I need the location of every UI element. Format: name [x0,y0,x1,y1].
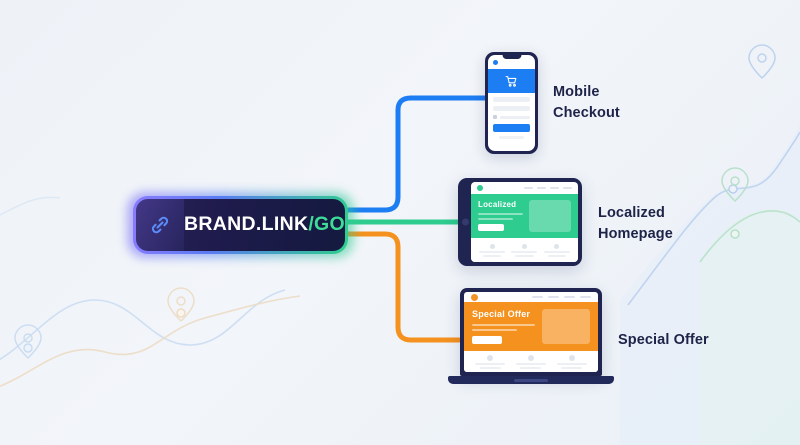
feature-text [515,255,533,257]
laptop-nav-links[interactable] [532,296,591,298]
feature-text [520,367,541,369]
label-localized-homepage: Localized Homepage [598,203,673,245]
label-line-2: Checkout [553,103,620,124]
tablet-home-button[interactable] [462,219,469,226]
laptop-feature-row [464,351,598,372]
laptop-hero-image [542,309,590,344]
tablet-hero-headline: Localized [478,200,523,209]
feature-text [479,251,505,253]
brand-link-badge[interactable]: BRAND.LINK/GO [133,196,348,254]
tablet-feature-item [544,244,570,257]
checkout-checkbox-row[interactable] [493,115,530,119]
laptop-site-logo [471,294,478,301]
checkout-field-1[interactable] [493,97,530,102]
laptop-hero-text [472,324,535,326]
phone-notch [502,55,521,59]
feature-text [475,363,505,365]
laptop-mockup-special-offer[interactable]: Special Offer [448,288,614,388]
nav-link[interactable] [580,296,591,298]
label-line-1: Special Offer [618,330,709,351]
label-line-2: Homepage [598,224,673,245]
shopping-cart-icon [488,69,535,93]
feature-text [511,251,537,253]
tablet-hero-image [529,200,571,232]
phone-app-logo [493,60,498,65]
tablet-hero-text [478,218,513,220]
tablet-feature-row [471,238,578,262]
label-special-offer: Special Offer [618,330,709,351]
nav-link[interactable] [550,187,559,189]
laptop-hero-text [472,329,517,331]
tablet-mockup-localized-homepage[interactable]: Localized [458,178,582,266]
nav-link[interactable] [564,296,575,298]
checkout-field-2[interactable] [493,106,530,111]
checkbox-label [500,116,530,119]
laptop-feature-item [475,355,505,369]
feature-text [480,367,501,369]
tablet-feature-item [479,244,505,257]
brand-name-primary: BRAND.LINK [184,213,308,235]
brand-name: BRAND.LINK/GO [184,215,345,235]
feature-icon [487,355,493,361]
phone-mockup-mobile-checkout[interactable] [485,52,538,154]
nav-link[interactable] [537,187,546,189]
feature-text [561,367,582,369]
tablet-site-logo [477,185,483,191]
infographic-canvas: BRAND.LINK/GO [0,0,800,445]
laptop-hero-headline: Special Offer [472,309,535,319]
chain-link-icon [136,199,184,251]
tablet-hero-section: Localized [471,194,578,238]
feature-icon [490,244,495,249]
laptop-hero-section: Special Offer [464,302,598,351]
feature-text [544,251,570,253]
connector-lines [0,0,800,445]
checkout-cta-button[interactable] [493,124,530,132]
tablet-hero-text [478,213,523,215]
tablet-nav-links[interactable] [524,187,572,189]
checkbox-icon[interactable] [493,115,497,119]
nav-link[interactable] [532,296,543,298]
feature-text [557,363,587,365]
laptop-trackpad [514,379,548,382]
label-line-1: Localized [598,203,673,224]
feature-text [483,255,501,257]
feature-text [548,255,566,257]
feature-text [516,363,546,365]
badge-border: BRAND.LINK/GO [133,196,348,254]
feature-icon [569,355,575,361]
label-mobile-checkout: Mobile Checkout [553,82,620,124]
tablet-hero-cta-button[interactable] [478,224,504,231]
laptop-feature-item [516,355,546,369]
tablet-navbar [471,182,578,194]
label-line-1: Mobile [553,82,620,103]
laptop-feature-item [557,355,587,369]
checkout-footnote [499,136,525,139]
nav-link[interactable] [548,296,559,298]
connector-special-offer [348,234,460,340]
tablet-feature-item [511,244,537,257]
nav-link[interactable] [524,187,533,189]
feature-icon [554,244,559,249]
feature-icon [528,355,534,361]
nav-link[interactable] [563,187,572,189]
feature-icon [522,244,527,249]
brand-name-accent: /GO [308,213,345,235]
laptop-hero-cta-button[interactable] [472,336,502,344]
laptop-navbar [464,292,598,302]
